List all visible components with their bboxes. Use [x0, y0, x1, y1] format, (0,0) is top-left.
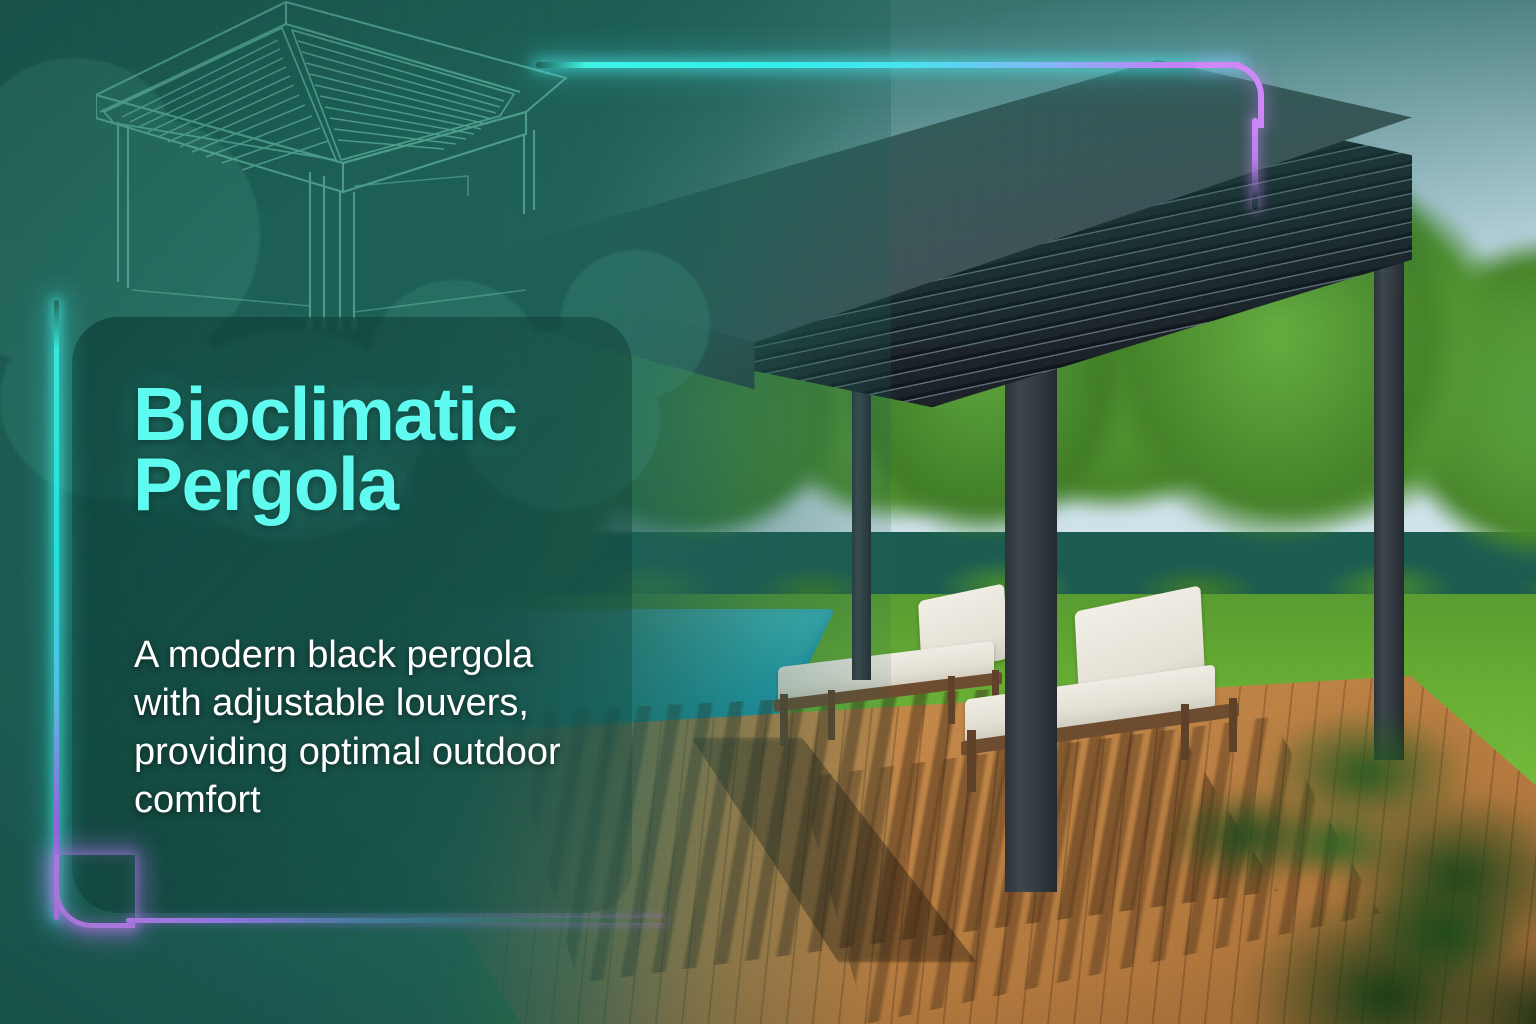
title-line-2: Pergola	[133, 450, 693, 520]
page-subtitle: A modern black pergola with adjustable l…	[134, 631, 694, 824]
subtitle-line-1: A modern black pergola	[134, 631, 694, 679]
banner-canvas: Bioclimatic Pergola A modern black pergo…	[0, 0, 1536, 1024]
page-title: Bioclimatic Pergola	[133, 380, 693, 520]
title-line-1: Bioclimatic	[133, 380, 693, 450]
subtitle-line-4: comfort	[134, 776, 694, 824]
subtitle-line-2: with adjustable louvers,	[134, 679, 694, 727]
subtitle-line-3: providing optimal outdoor	[134, 728, 694, 776]
